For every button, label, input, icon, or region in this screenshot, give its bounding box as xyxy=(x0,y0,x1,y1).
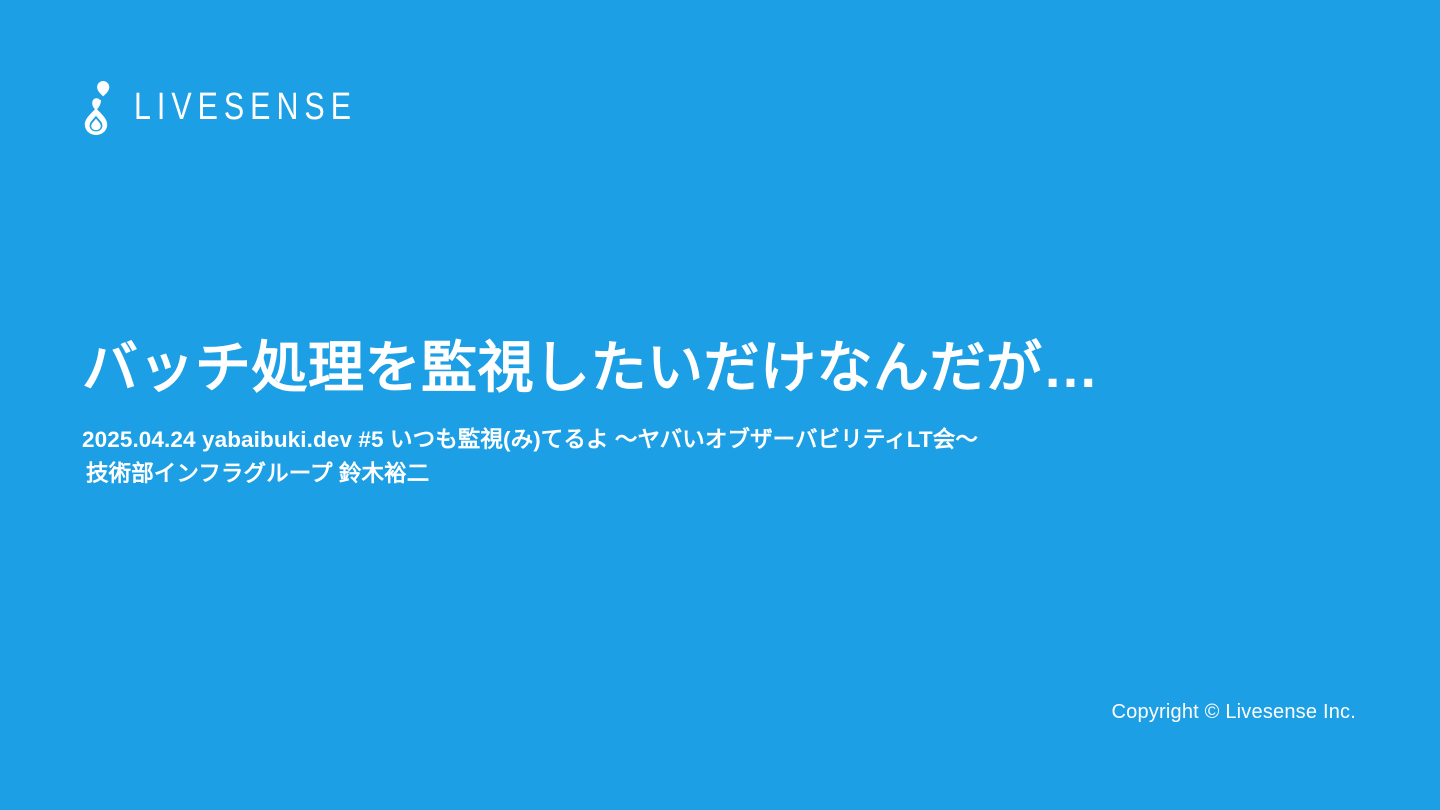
livesense-logo: LIVESENSE xyxy=(80,78,413,136)
livesense-droplet-mark xyxy=(80,79,120,135)
subtitle-event-line: 2025.04.24 yabaibuki.dev #5 いつも監視(み)てるよ … xyxy=(82,423,1372,457)
subtitle-presenter-line: 技術部インフラグループ 鈴木裕二 xyxy=(82,457,1372,491)
title-slide: LIVESENSE バッチ処理を監視したいだけなんだが… 2025.04.24 … xyxy=(0,0,1440,810)
livesense-wordmark: LIVESENSE xyxy=(134,88,357,126)
copyright-notice: Copyright © Livesense Inc. xyxy=(1112,701,1357,724)
subtitle-block: 2025.04.24 yabaibuki.dev #5 いつも監視(み)てるよ … xyxy=(82,423,1372,491)
page-title: バッチ処理を監視したいだけなんだが… xyxy=(82,336,1372,401)
title-block: バッチ処理を監視したいだけなんだが… 2025.04.24 yabaibuki.… xyxy=(82,336,1372,491)
